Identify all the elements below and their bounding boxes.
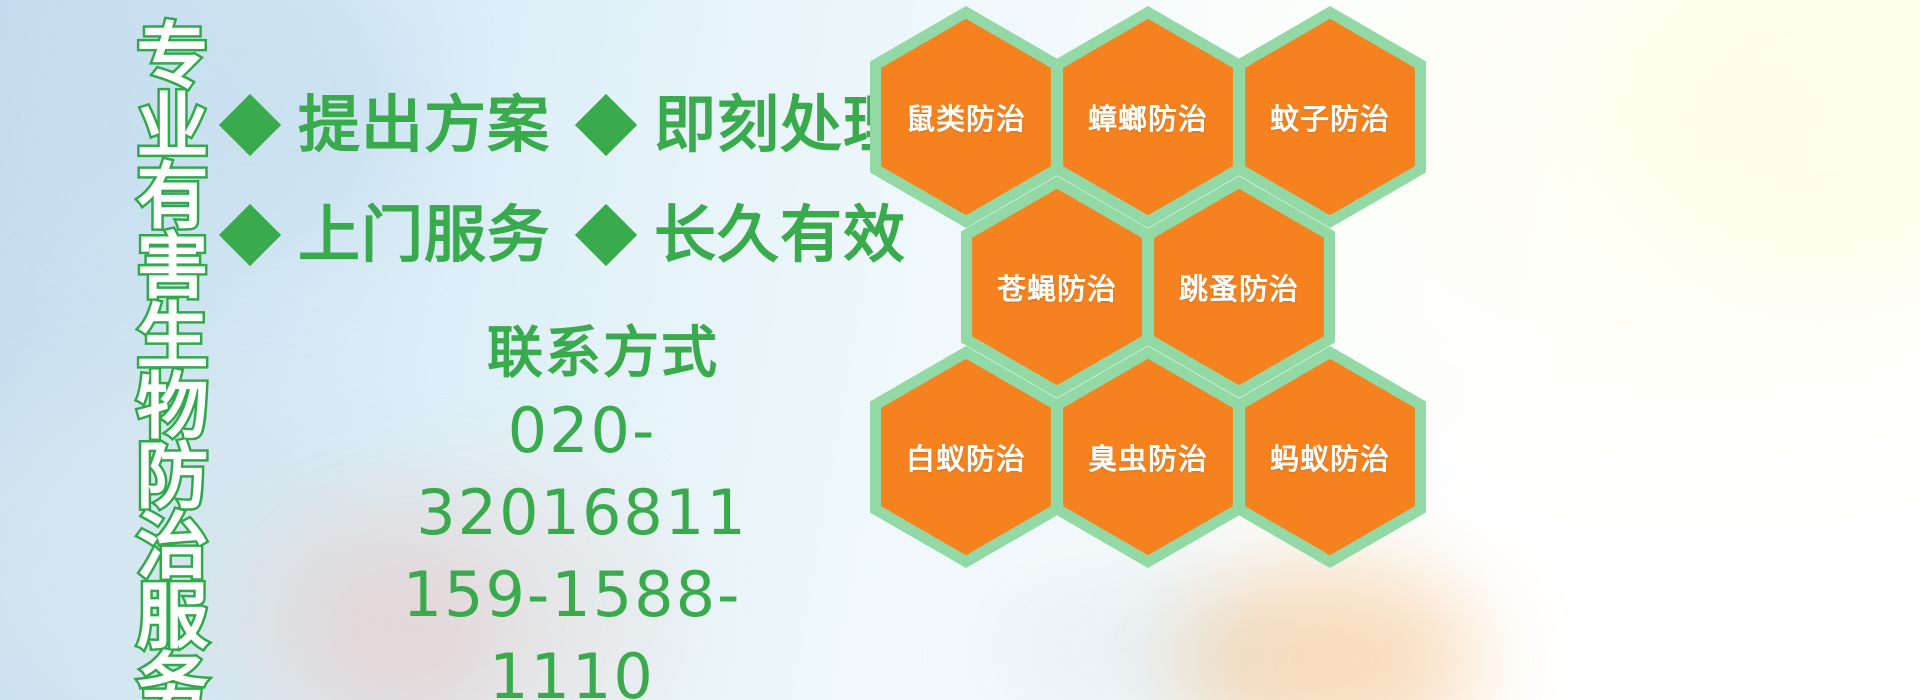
feature-row-1: 提出方案 即刻处理 [228, 88, 906, 162]
hex-label: 白蚁防治 [870, 346, 1062, 568]
feature-row-2: 上门服务 长久有效 [228, 198, 906, 272]
diamond-bullet-icon [575, 94, 637, 156]
promo-banner: 专业有害生物防治服务 提出方案 即刻处理 上门服务 长久有效 联系方式 020-… [0, 0, 1920, 700]
feature-label-propose-plan: 提出方案 [298, 88, 550, 162]
phone-number-landline[interactable]: 020-32016811 [300, 390, 820, 554]
phone-number-mobile[interactable]: 159-1588-1110 [300, 554, 820, 700]
contact-block: 联系方式 020-32016811 159-1588-1110 [300, 318, 820, 700]
diamond-bullet-icon [219, 94, 281, 156]
diamond-bullet-icon [219, 204, 281, 266]
background-wash [1180, 560, 1480, 700]
hex-label: 臭虫防治 [1052, 346, 1244, 568]
diamond-bullet-icon [575, 204, 637, 266]
service-honeycomb: 鼠类防治 蟑螂防治 蚊子防治 苍蝇防治 跳蚤防治 白蚁防治 [856, 0, 1476, 580]
hex-cell-bedbug[interactable]: 臭虫防治 [1052, 346, 1244, 568]
hex-label: 蚂蚁防治 [1234, 346, 1426, 568]
vertical-headline: 专业有害生物防治服务 [106, 18, 202, 700]
contact-heading: 联系方式 [300, 318, 820, 390]
background-wash [1000, 560, 1260, 700]
hex-cell-ant[interactable]: 蚂蚁防治 [1234, 346, 1426, 568]
background-wash [1620, 0, 1920, 280]
hex-cell-termite[interactable]: 白蚁防治 [870, 346, 1062, 568]
feature-label-onsite-service: 上门服务 [298, 198, 550, 272]
